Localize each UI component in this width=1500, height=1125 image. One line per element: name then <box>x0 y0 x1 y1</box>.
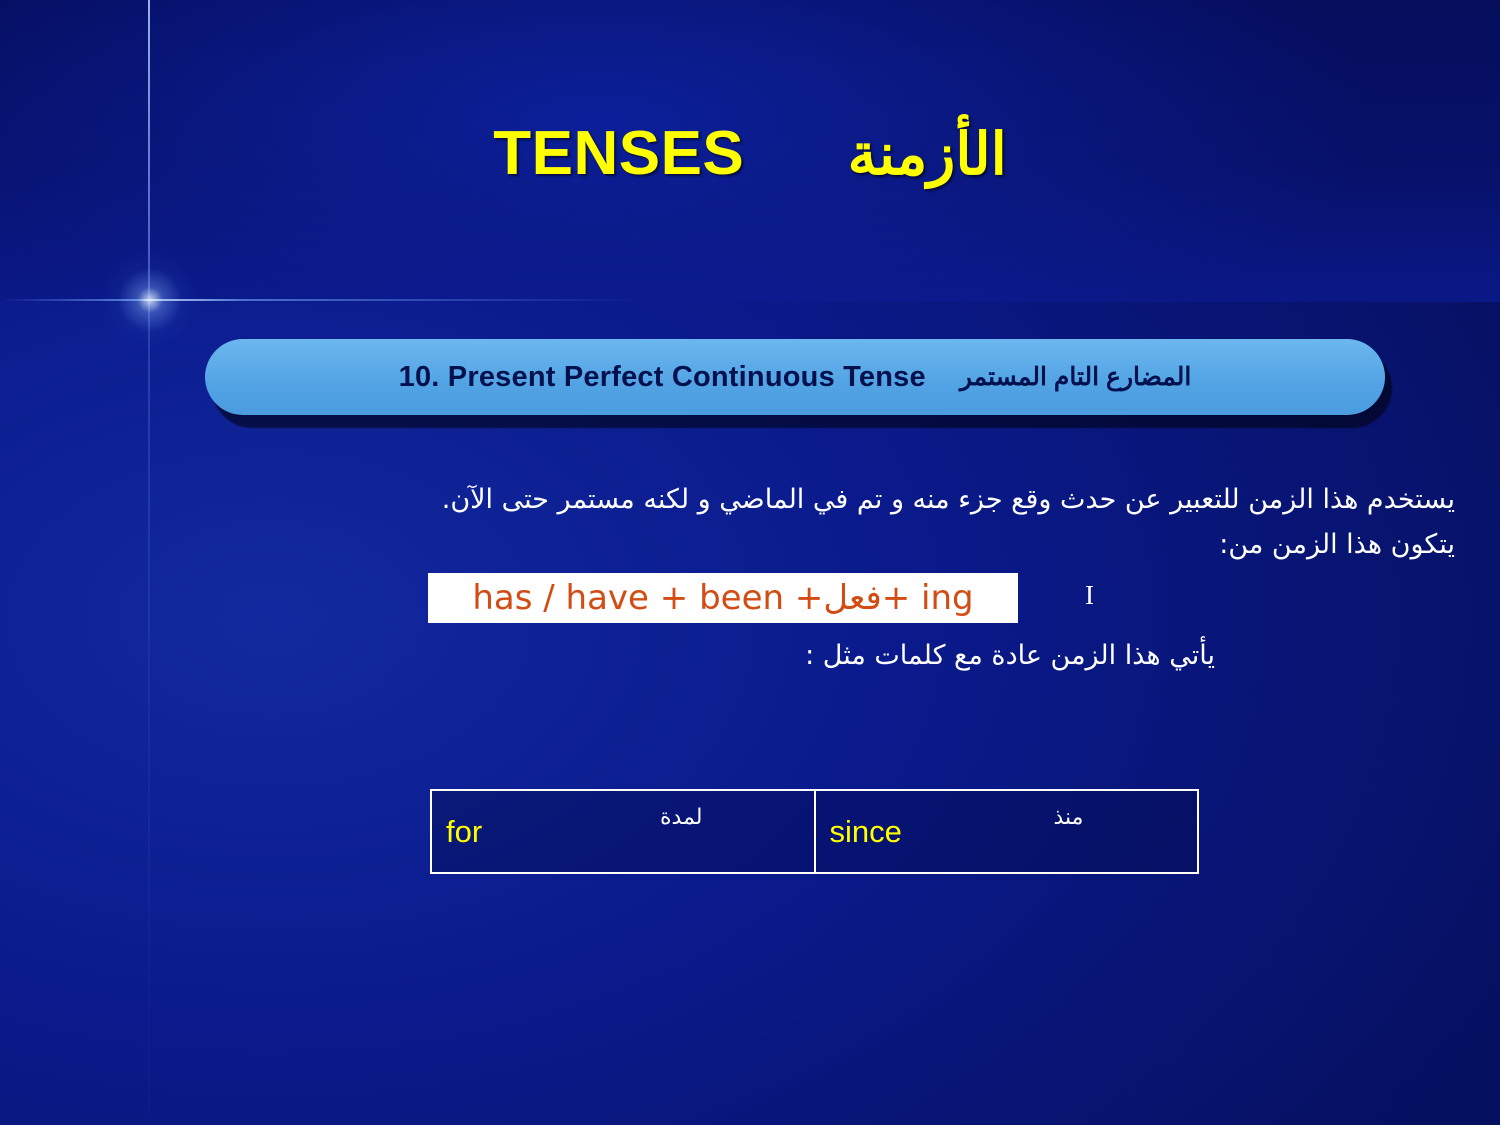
table-cell-for: for لمدة <box>432 791 814 872</box>
body-paragraph-3: يأتي هذا الزمن عادة مع كلمات مثل : <box>35 638 1215 674</box>
body-paragraph-1: يستخدم هذا الزمن للتعبير عن حدث وقع جزء … <box>35 482 1455 518</box>
table-cell-for-english: for <box>446 814 482 850</box>
table-cell-since: since منذ <box>814 791 1198 872</box>
subject-marker: I <box>1085 580 1094 611</box>
section-header-arabic: المضارع التام المستمر <box>960 362 1192 392</box>
horizontal-accent-line <box>0 299 640 301</box>
page-title: الأزمنة TENSES <box>0 118 1500 189</box>
page-title-english: TENSES <box>493 119 744 188</box>
formula-text: has / have + been +فعل+ ing <box>472 578 973 618</box>
slide: الأزمنة TENSES 10. Present Perfect Conti… <box>0 0 1500 1125</box>
formula-box: has / have + been +فعل+ ing <box>428 573 1018 623</box>
time-expressions-table: for لمدة since منذ <box>430 789 1199 874</box>
page-title-arabic: الأزمنة <box>848 122 1007 187</box>
table-cell-since-arabic: منذ <box>1054 805 1084 830</box>
table-cell-since-english: since <box>830 814 902 850</box>
section-header-bar: 10. Present Perfect Continuous Tense الم… <box>205 339 1385 415</box>
section-header: 10. Present Perfect Continuous Tense الم… <box>205 339 1385 425</box>
table-cell-for-arabic: لمدة <box>660 805 703 830</box>
section-header-english: 10. Present Perfect Continuous Tense <box>399 361 926 394</box>
body-paragraph-2: يتكون هذا الزمن من: <box>35 527 1455 563</box>
